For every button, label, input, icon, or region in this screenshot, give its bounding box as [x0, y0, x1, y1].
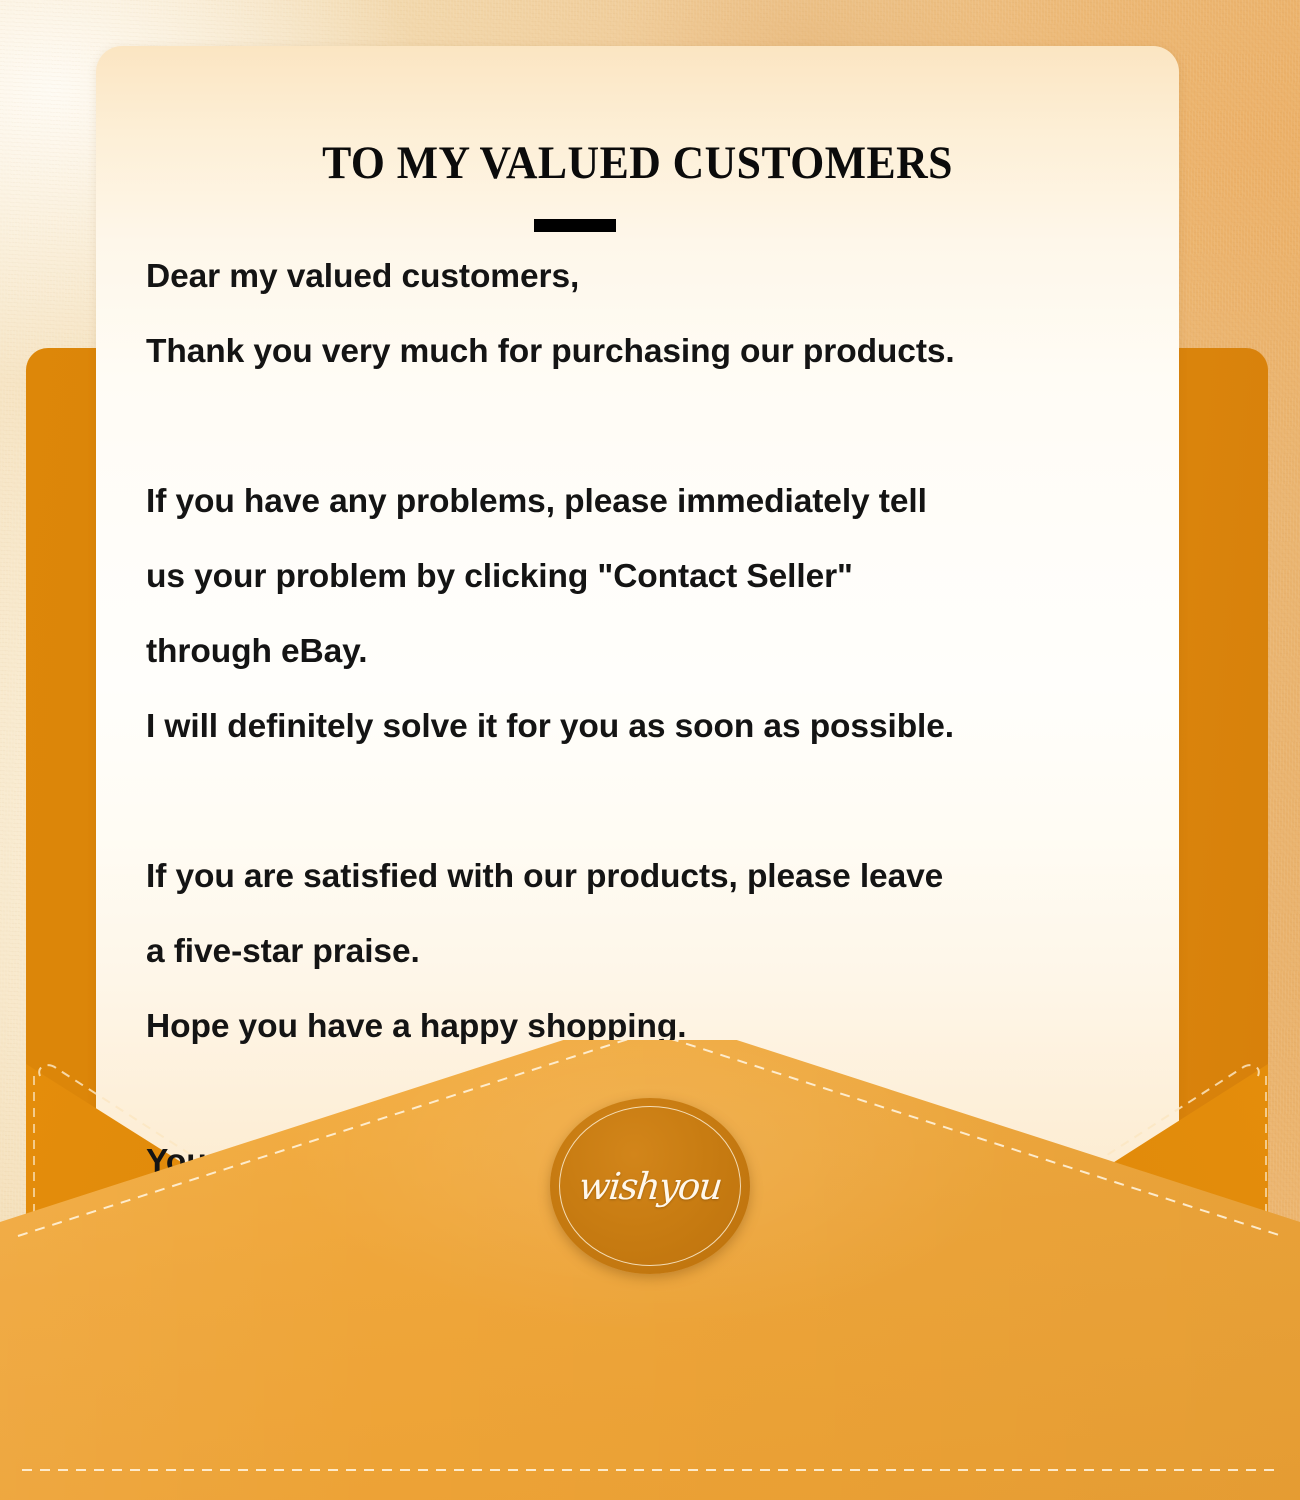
- greeting-card-scene: TO MY VALUED CUSTOMERS Dear my valued cu…: [0, 0, 1300, 1500]
- body-spacer-2: [146, 764, 1146, 839]
- wax-seal: wishyou: [550, 1098, 750, 1274]
- body-line-1: Dear my valued customers,: [146, 239, 1146, 314]
- page-title: TO MY VALUED CUSTOMERS: [134, 136, 1141, 190]
- wax-seal-label: wishyou: [577, 1165, 724, 1208]
- body-line-3: If you have any problems, please immedia…: [146, 464, 1146, 539]
- body-line-4: us your problem by clicking "Contact Sel…: [146, 539, 1146, 614]
- body-line-2: Thank you very much for purchasing our p…: [146, 314, 1146, 389]
- body-line-8: a five-star praise.: [146, 914, 1146, 989]
- body-spacer-1: [146, 389, 1146, 464]
- body-line-6: I will definitely solve it for you as so…: [146, 689, 1146, 764]
- body-line-7: If you are satisfied with our products, …: [146, 839, 1146, 914]
- letter-body: Dear my valued customers, Thank you very…: [146, 239, 1146, 1064]
- title-divider: [534, 219, 616, 232]
- body-line-5: through eBay.: [146, 614, 1146, 689]
